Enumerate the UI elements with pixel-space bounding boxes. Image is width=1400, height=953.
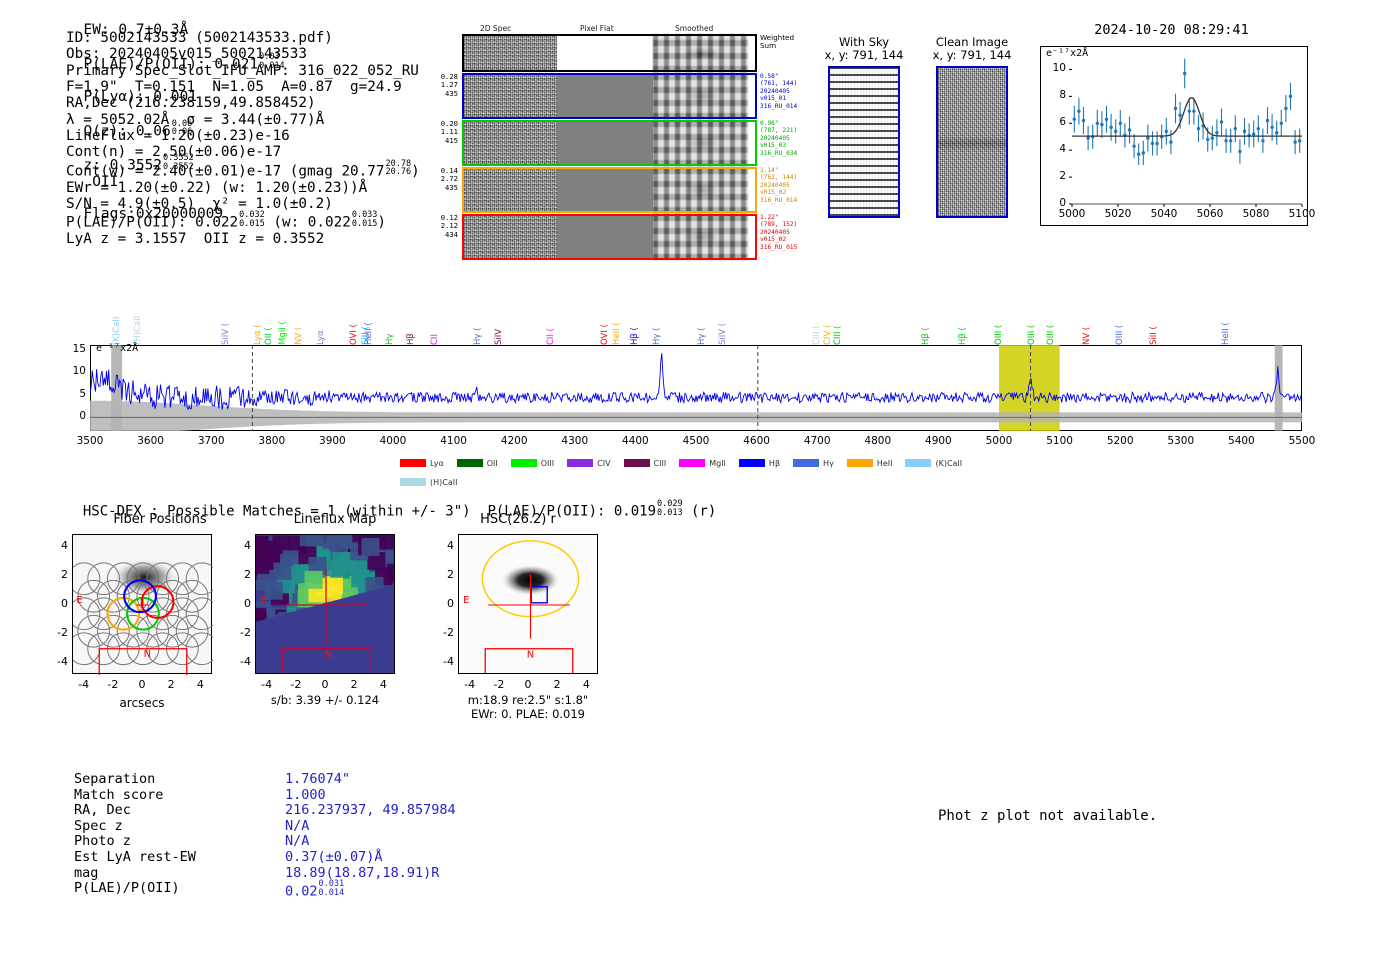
match-table-key: mag bbox=[74, 866, 98, 882]
zoom-chart-svg bbox=[1040, 46, 1308, 226]
hsc-r-image[interactable]: NE bbox=[458, 534, 598, 674]
spectrum-x-tick: 4900 bbox=[916, 435, 960, 447]
zoom-x-tick: 5060 bbox=[1195, 208, 1225, 220]
legend-label: OII bbox=[487, 459, 498, 468]
legend-label: Hβ bbox=[769, 459, 780, 468]
twod-row-fiber-3: 0.142.72435 1.14"(762, 144)20240405v015_… bbox=[462, 167, 757, 213]
twod-image-2dspec bbox=[462, 34, 557, 72]
twod-image-smoothed bbox=[653, 167, 748, 213]
info-line-id: ID: 5002143533 (5002143533.pdf) bbox=[66, 30, 420, 46]
emission-line-label: (K)CaII bbox=[112, 300, 122, 345]
twod-image-2dspec bbox=[462, 167, 557, 213]
emission-line-label: Lyα ( bbox=[253, 300, 263, 345]
cutout-x-tick: 2 bbox=[541, 678, 573, 691]
match-table-value: 0.37(±0.07)Å bbox=[285, 850, 383, 866]
match-table-value: 0.020.0310.014 bbox=[285, 881, 344, 900]
panel-title-lineflux-map: Lineflux Map bbox=[245, 512, 425, 527]
emission-line-label: (H)CaII bbox=[133, 300, 143, 345]
spectrum-x-tick: 3500 bbox=[68, 435, 112, 447]
emission-line-label: Hβ bbox=[406, 300, 416, 345]
cutout-x-tick: -2 bbox=[280, 678, 312, 691]
photz-message: Phot z plot not available. bbox=[938, 808, 1157, 824]
cutout-y-tick: -4 bbox=[434, 655, 454, 668]
cutout-y-tick: 2 bbox=[231, 568, 251, 581]
zoom-flux-unit: e⁻¹⁷x2Å bbox=[1046, 48, 1088, 59]
emission-line-labels: (K)CaII(H)CaIISiIV (Lyα (OII (MgII (NV (… bbox=[90, 272, 1302, 345]
emission-line-label: Hβ ( bbox=[921, 300, 931, 345]
emission-line-label: OIII ( bbox=[994, 300, 1004, 345]
panel-title-fiber-positions: Fiber Positions bbox=[70, 512, 250, 527]
match-table-key: RA, Dec bbox=[74, 803, 131, 819]
emission-line-label: Lyα bbox=[316, 300, 326, 345]
cutout-y-tick: 4 bbox=[48, 539, 68, 552]
fiber-positions-xlabel: arcsecs bbox=[72, 696, 212, 710]
cutout-x-tick: 0 bbox=[512, 678, 544, 691]
spectrum-x-tick: 5500 bbox=[1280, 435, 1324, 447]
twod-row-weighted-sum: Weighted Sum bbox=[462, 34, 757, 72]
emission-line-label: SiIV ( bbox=[221, 300, 231, 345]
emission-line-label: CII ( bbox=[546, 300, 556, 345]
fiber-right-values: 1.22"(789, 152)20240405v015_02316_RU_015 bbox=[757, 214, 797, 251]
header-timestamp: 2024-10-20 08:29:41 bbox=[1094, 22, 1248, 38]
emission-line-label: NV ( bbox=[1082, 300, 1092, 345]
spectrum-x-tick: 4600 bbox=[735, 435, 779, 447]
zoom-x-tick: 5080 bbox=[1241, 208, 1271, 220]
detection-info-block: ID: 5002143533 (5002143533.pdf) Obs: 202… bbox=[66, 30, 420, 247]
emission-line-label: OVI ( bbox=[600, 300, 610, 345]
emission-line-label: NV ( bbox=[294, 300, 304, 345]
svg-text:E: E bbox=[76, 595, 82, 606]
thumbnail-subtitle: x, y: 791, 144 bbox=[822, 49, 906, 62]
emission-line-label: CIV ( bbox=[823, 300, 833, 345]
cutout-y-tick: 0 bbox=[48, 597, 68, 610]
emission-line-label: Hγ ( bbox=[697, 300, 707, 345]
cutout-x-tick: 0 bbox=[126, 678, 158, 691]
legend-label: MgII bbox=[709, 459, 726, 468]
cutout-x-tick: -2 bbox=[97, 678, 129, 691]
twod-row-fiber-4: 0.122.12434 1.22"(789, 152)20240405v015_… bbox=[462, 214, 757, 260]
line-zoom-chart: e⁻¹⁷x2Å 500050205040506050805100 0246810 bbox=[1040, 46, 1308, 226]
spectrum-x-tick: 5100 bbox=[1038, 435, 1082, 447]
info-line-obs: Obs: 20240405v015_5002143533 bbox=[66, 46, 420, 62]
legend-item: CIV bbox=[567, 459, 610, 468]
emission-line-label: HeII ( bbox=[1221, 300, 1231, 345]
twod-image-2dspec bbox=[462, 73, 557, 119]
zoom-x-tick: 5040 bbox=[1149, 208, 1179, 220]
match-table-key: Match score bbox=[74, 788, 163, 804]
twod-image-pixelflat bbox=[557, 167, 653, 213]
spectrum-y-tick: 10 bbox=[60, 365, 86, 377]
twod-image-pixelflat bbox=[557, 120, 653, 166]
svg-text:N: N bbox=[527, 650, 534, 661]
info-plae-w-bounds: 0.0330.015 bbox=[352, 211, 378, 228]
match-table-key: Spec z bbox=[74, 819, 123, 835]
emission-line-label: Hβ ( bbox=[630, 300, 640, 345]
svg-text:E: E bbox=[260, 595, 266, 606]
cutout-x-tick: 2 bbox=[155, 678, 187, 691]
cutout-x-tick: 4 bbox=[367, 678, 399, 691]
legend-swatch bbox=[624, 459, 650, 467]
zoom-y-tick: 0 bbox=[1040, 197, 1066, 209]
zoom-x-tick: 5020 bbox=[1103, 208, 1133, 220]
spectrum-x-tick: 3600 bbox=[129, 435, 173, 447]
fiber-left-values: 0.201.11415 bbox=[441, 120, 462, 145]
cutout-y-tick: -2 bbox=[231, 626, 251, 639]
match-table-key: Est LyA rest-EW bbox=[74, 850, 196, 866]
svg-text:E: E bbox=[463, 595, 469, 606]
spectrum-x-tick: 4400 bbox=[613, 435, 657, 447]
match-table-key: Photo z bbox=[74, 834, 131, 850]
legend-label: CIII bbox=[654, 459, 667, 468]
match-table-value: 18.89(18.87,18.91)R bbox=[285, 866, 439, 882]
legend-swatch bbox=[457, 459, 483, 467]
zoom-y-tick: 8 bbox=[1040, 89, 1066, 101]
zoom-x-tick: 5000 bbox=[1057, 208, 1087, 220]
match-table-value: 1.000 bbox=[285, 788, 326, 804]
thumbnail-with-sky: With Sky x, y: 791, 144 bbox=[822, 36, 906, 218]
match-table-value: 216.237937, 49.857984 bbox=[285, 803, 456, 819]
emission-line-label: OIII ( bbox=[1046, 300, 1056, 345]
zoom-x-tick: 5100 bbox=[1287, 208, 1317, 220]
info-plae-bounds: 0.0320.015 bbox=[239, 211, 265, 228]
legend-label: Hγ bbox=[823, 459, 834, 468]
match-table-key: Separation bbox=[74, 772, 155, 788]
legend-label: Lyα bbox=[430, 459, 444, 468]
info-line-plae: P(LAE)/P(OII): 0.0220.0320.015 (w: 0.022… bbox=[66, 212, 420, 231]
cutout-x-tick: -4 bbox=[454, 678, 486, 691]
twod-row-fiber-2: 0.201.11415 0.96"(787, 221)20240405v015_… bbox=[462, 120, 757, 166]
legend-item: Hβ bbox=[739, 459, 780, 468]
twod-image-2dspec bbox=[462, 120, 557, 166]
legend-item: Hγ bbox=[793, 459, 834, 468]
legend-swatch bbox=[847, 459, 873, 467]
twod-image-smoothed bbox=[653, 34, 748, 72]
spectrum-x-tick: 5000 bbox=[977, 435, 1021, 447]
svg-text:N: N bbox=[144, 649, 151, 660]
legend-label: OIII bbox=[541, 459, 554, 468]
emission-line-label: Hγ ( bbox=[473, 300, 483, 345]
svg-text:N: N bbox=[325, 650, 332, 661]
fiber-left-values: 0.281.27435 bbox=[441, 73, 462, 98]
zoom-y-tick: 10 bbox=[1040, 62, 1066, 74]
spectrum-x-tick: 5200 bbox=[1098, 435, 1142, 447]
info-line-ifu: Primary Spec_Slot_IFU_AMP: 316_022_052_R… bbox=[66, 63, 420, 79]
match-table-value: 1.76074" bbox=[285, 772, 350, 788]
weighted-sum-label: Weighted Sum bbox=[757, 34, 794, 51]
emission-line-label: HeII ( bbox=[612, 300, 622, 345]
spectrum-x-tick: 3700 bbox=[189, 435, 233, 447]
cutout-y-tick: 2 bbox=[434, 568, 454, 581]
lineflux-map-image[interactable]: NE bbox=[255, 534, 395, 674]
spectrum-x-tick: 3900 bbox=[310, 435, 354, 447]
legend-swatch bbox=[739, 459, 765, 467]
cutout-y-tick: 2 bbox=[48, 568, 68, 581]
legend-label: (K)CaII bbox=[935, 459, 962, 468]
twod-image-pixelflat bbox=[557, 214, 653, 260]
thumbnail-clean-image: Clean Image x, y: 791, 144 bbox=[930, 36, 1014, 218]
legend-swatch bbox=[567, 459, 593, 467]
cutout-y-tick: -2 bbox=[48, 626, 68, 639]
spectrum-y-tick: 0 bbox=[60, 410, 86, 422]
lineflux-map-subtitle: s/b: 3.39 +/- 0.124 bbox=[245, 694, 405, 708]
col-title-smoothed: Smoothed bbox=[675, 24, 713, 33]
emission-line-label: OIII ( bbox=[1115, 300, 1125, 345]
thumbnail-subtitle: x, y: 791, 144 bbox=[930, 49, 1014, 62]
col-title-pixelflat: Pixel Flat bbox=[580, 24, 614, 33]
zoom-y-tick: 2 bbox=[1040, 170, 1066, 182]
emission-line-label: Hγ bbox=[385, 300, 395, 345]
cutout-y-tick: -4 bbox=[231, 655, 251, 668]
emission-line-label: Hβ ( bbox=[958, 300, 968, 345]
fiber-right-values: 0.96"(787, 221)20240405v015_03316_RU_034 bbox=[757, 120, 797, 157]
fiber-left-values: 0.142.72435 bbox=[441, 167, 462, 192]
fiber-right-values: 0.58"(761, 144)20240405v015_01316_RU_014 bbox=[757, 73, 797, 110]
twod-image-2dspec bbox=[462, 214, 557, 260]
info-line-ewr: EWr = 1.20(±0.22) (w: 1.20(±0.23))Å bbox=[66, 180, 420, 196]
panel-title-hsc-r: HSC(26.2) r bbox=[428, 512, 608, 527]
legend-item: (K)CaII bbox=[905, 459, 962, 468]
twod-image-pixelflat bbox=[557, 34, 653, 72]
legend-label: HeII bbox=[877, 459, 893, 468]
legend-swatch bbox=[793, 459, 819, 467]
emission-line-label: MgII ( bbox=[278, 300, 288, 345]
cutout-x-tick: -4 bbox=[68, 678, 100, 691]
cutout-y-tick: -4 bbox=[48, 655, 68, 668]
match-table-value: N/A bbox=[285, 834, 309, 850]
emission-line-label: SiII ( bbox=[1149, 300, 1159, 345]
legend-swatch bbox=[905, 459, 931, 467]
emission-line-label: CIII ( bbox=[833, 300, 843, 345]
info-line-contw: Cont(w) = 2.40(±0.01)e-17 (gmag 20.7720.… bbox=[66, 161, 420, 180]
cutout-y-tick: 0 bbox=[231, 597, 251, 610]
legend-swatch bbox=[400, 459, 426, 467]
spectrum-x-tick: 3800 bbox=[250, 435, 294, 447]
contw-bounds: 20.7820.76 bbox=[385, 160, 411, 177]
info-line-contn: Cont(n) = 2.50(±0.06)e-17 bbox=[66, 144, 420, 160]
legend-item: MgII bbox=[679, 459, 726, 468]
cutout-x-tick: 2 bbox=[338, 678, 370, 691]
hsc-dex-bounds: 0.0290.013 bbox=[657, 500, 683, 517]
spectrum-x-tick: 4200 bbox=[492, 435, 536, 447]
emission-line-label: CIII ( bbox=[812, 300, 822, 345]
match-table-key: P(LAE)/P(OII) bbox=[74, 881, 180, 897]
fiber-right-values: 1.14"(762, 144)20240405v015_02316_RU_014 bbox=[757, 167, 797, 204]
emission-line-label: OVI ( bbox=[349, 300, 359, 345]
legend-swatch bbox=[679, 459, 705, 467]
info-line-lineflux: LineFlux = 1.20(±0.23)e-16 bbox=[66, 128, 420, 144]
spectrum-x-tick: 4300 bbox=[553, 435, 597, 447]
spectrum-x-tick: 5300 bbox=[1159, 435, 1203, 447]
spectrum-x-tick: 5400 bbox=[1219, 435, 1263, 447]
spectrum-x-tick: 4500 bbox=[674, 435, 718, 447]
full-spectrum-svg bbox=[90, 345, 1302, 431]
cutout-x-tick: 4 bbox=[570, 678, 602, 691]
emission-line-label: Hγ ( bbox=[652, 300, 662, 345]
info-line-lambda: λ = 5052.02Å σ = 3.44(±0.77)Å bbox=[66, 112, 420, 128]
spectrum-x-tick: 4800 bbox=[856, 435, 900, 447]
legend-item: Lyα bbox=[400, 459, 444, 468]
hsc-dex-filter: (r) bbox=[691, 504, 716, 520]
spectrum-x-tick: 4000 bbox=[371, 435, 415, 447]
info-line-radec: RA,Dec (216.238159,49.858452) bbox=[66, 95, 420, 111]
zoom-y-tick: 4 bbox=[1040, 143, 1066, 155]
cutout-x-tick: 4 bbox=[184, 678, 216, 691]
cutout-x-tick: -2 bbox=[483, 678, 515, 691]
legend-item: CIII bbox=[624, 459, 667, 468]
fiber-left-values: 0.122.12434 bbox=[441, 214, 462, 239]
info-line-seeing: F=1.9" T=0.151 N=1.05 A=0.87 g=24.9 bbox=[66, 79, 420, 95]
cutout-y-tick: -2 bbox=[434, 626, 454, 639]
twod-image-smoothed bbox=[653, 214, 748, 260]
emission-line-label: SiIV bbox=[494, 300, 504, 345]
legend-item: OII bbox=[457, 459, 498, 468]
cutout-x-tick: -4 bbox=[251, 678, 283, 691]
emission-line-label: CII bbox=[430, 300, 440, 345]
zoom-y-tick: 6 bbox=[1040, 116, 1066, 128]
full-spectrum-chart: e⁻¹⁷x2Å bbox=[90, 345, 1302, 431]
spectrum-y-tick: 5 bbox=[60, 388, 86, 400]
col-title-2dspec: 2D Spec bbox=[480, 24, 511, 33]
spectrum-x-tick: 4100 bbox=[432, 435, 476, 447]
twod-image-smoothed bbox=[653, 120, 748, 166]
clean-image bbox=[936, 66, 1008, 218]
cutout-y-tick: 0 bbox=[434, 597, 454, 610]
fiber-positions-image[interactable]: NE bbox=[72, 534, 212, 674]
spectrum-x-tick: 4700 bbox=[795, 435, 839, 447]
match-table-value: N/A bbox=[285, 819, 309, 835]
emission-line-label: OII ( bbox=[264, 272, 274, 345]
emission-line-label: OIII ( bbox=[1027, 272, 1037, 345]
legend-item: OIII bbox=[511, 459, 554, 468]
cutout-y-tick: 4 bbox=[434, 539, 454, 552]
cutout-y-tick: 4 bbox=[231, 539, 251, 552]
legend-item: HeII bbox=[847, 459, 893, 468]
legend-label: CIV bbox=[597, 459, 610, 468]
emission-line-label: HeII ( bbox=[364, 300, 374, 345]
twod-spectrum-panel: 2D Spec Pixel Flat Smoothed Weighted Sum… bbox=[462, 34, 757, 261]
emission-line-label: SiIV ( bbox=[718, 300, 728, 345]
spectrum-y-tick: 15 bbox=[60, 343, 86, 355]
with-sky-image bbox=[828, 66, 900, 218]
legend-swatch bbox=[511, 459, 537, 467]
hsc-r-subtitle: m:18.9 re:2.5" s:1.8" EWr: 0. PLAE: 0.01… bbox=[428, 694, 628, 721]
spectrum-flux-unit: e⁻¹⁷x2Å bbox=[96, 343, 138, 354]
cutout-x-tick: 0 bbox=[309, 678, 341, 691]
twod-image-pixelflat bbox=[557, 73, 653, 119]
info-line-redshifts: LyA z = 3.1557 OII z = 0.3552 bbox=[66, 231, 420, 247]
match-table-bounds: 0.0310.014 bbox=[319, 880, 345, 897]
twod-row-fiber-1: 0.281.27435 0.58"(761, 144)20240405v015_… bbox=[462, 73, 757, 119]
twod-image-smoothed bbox=[653, 73, 748, 119]
